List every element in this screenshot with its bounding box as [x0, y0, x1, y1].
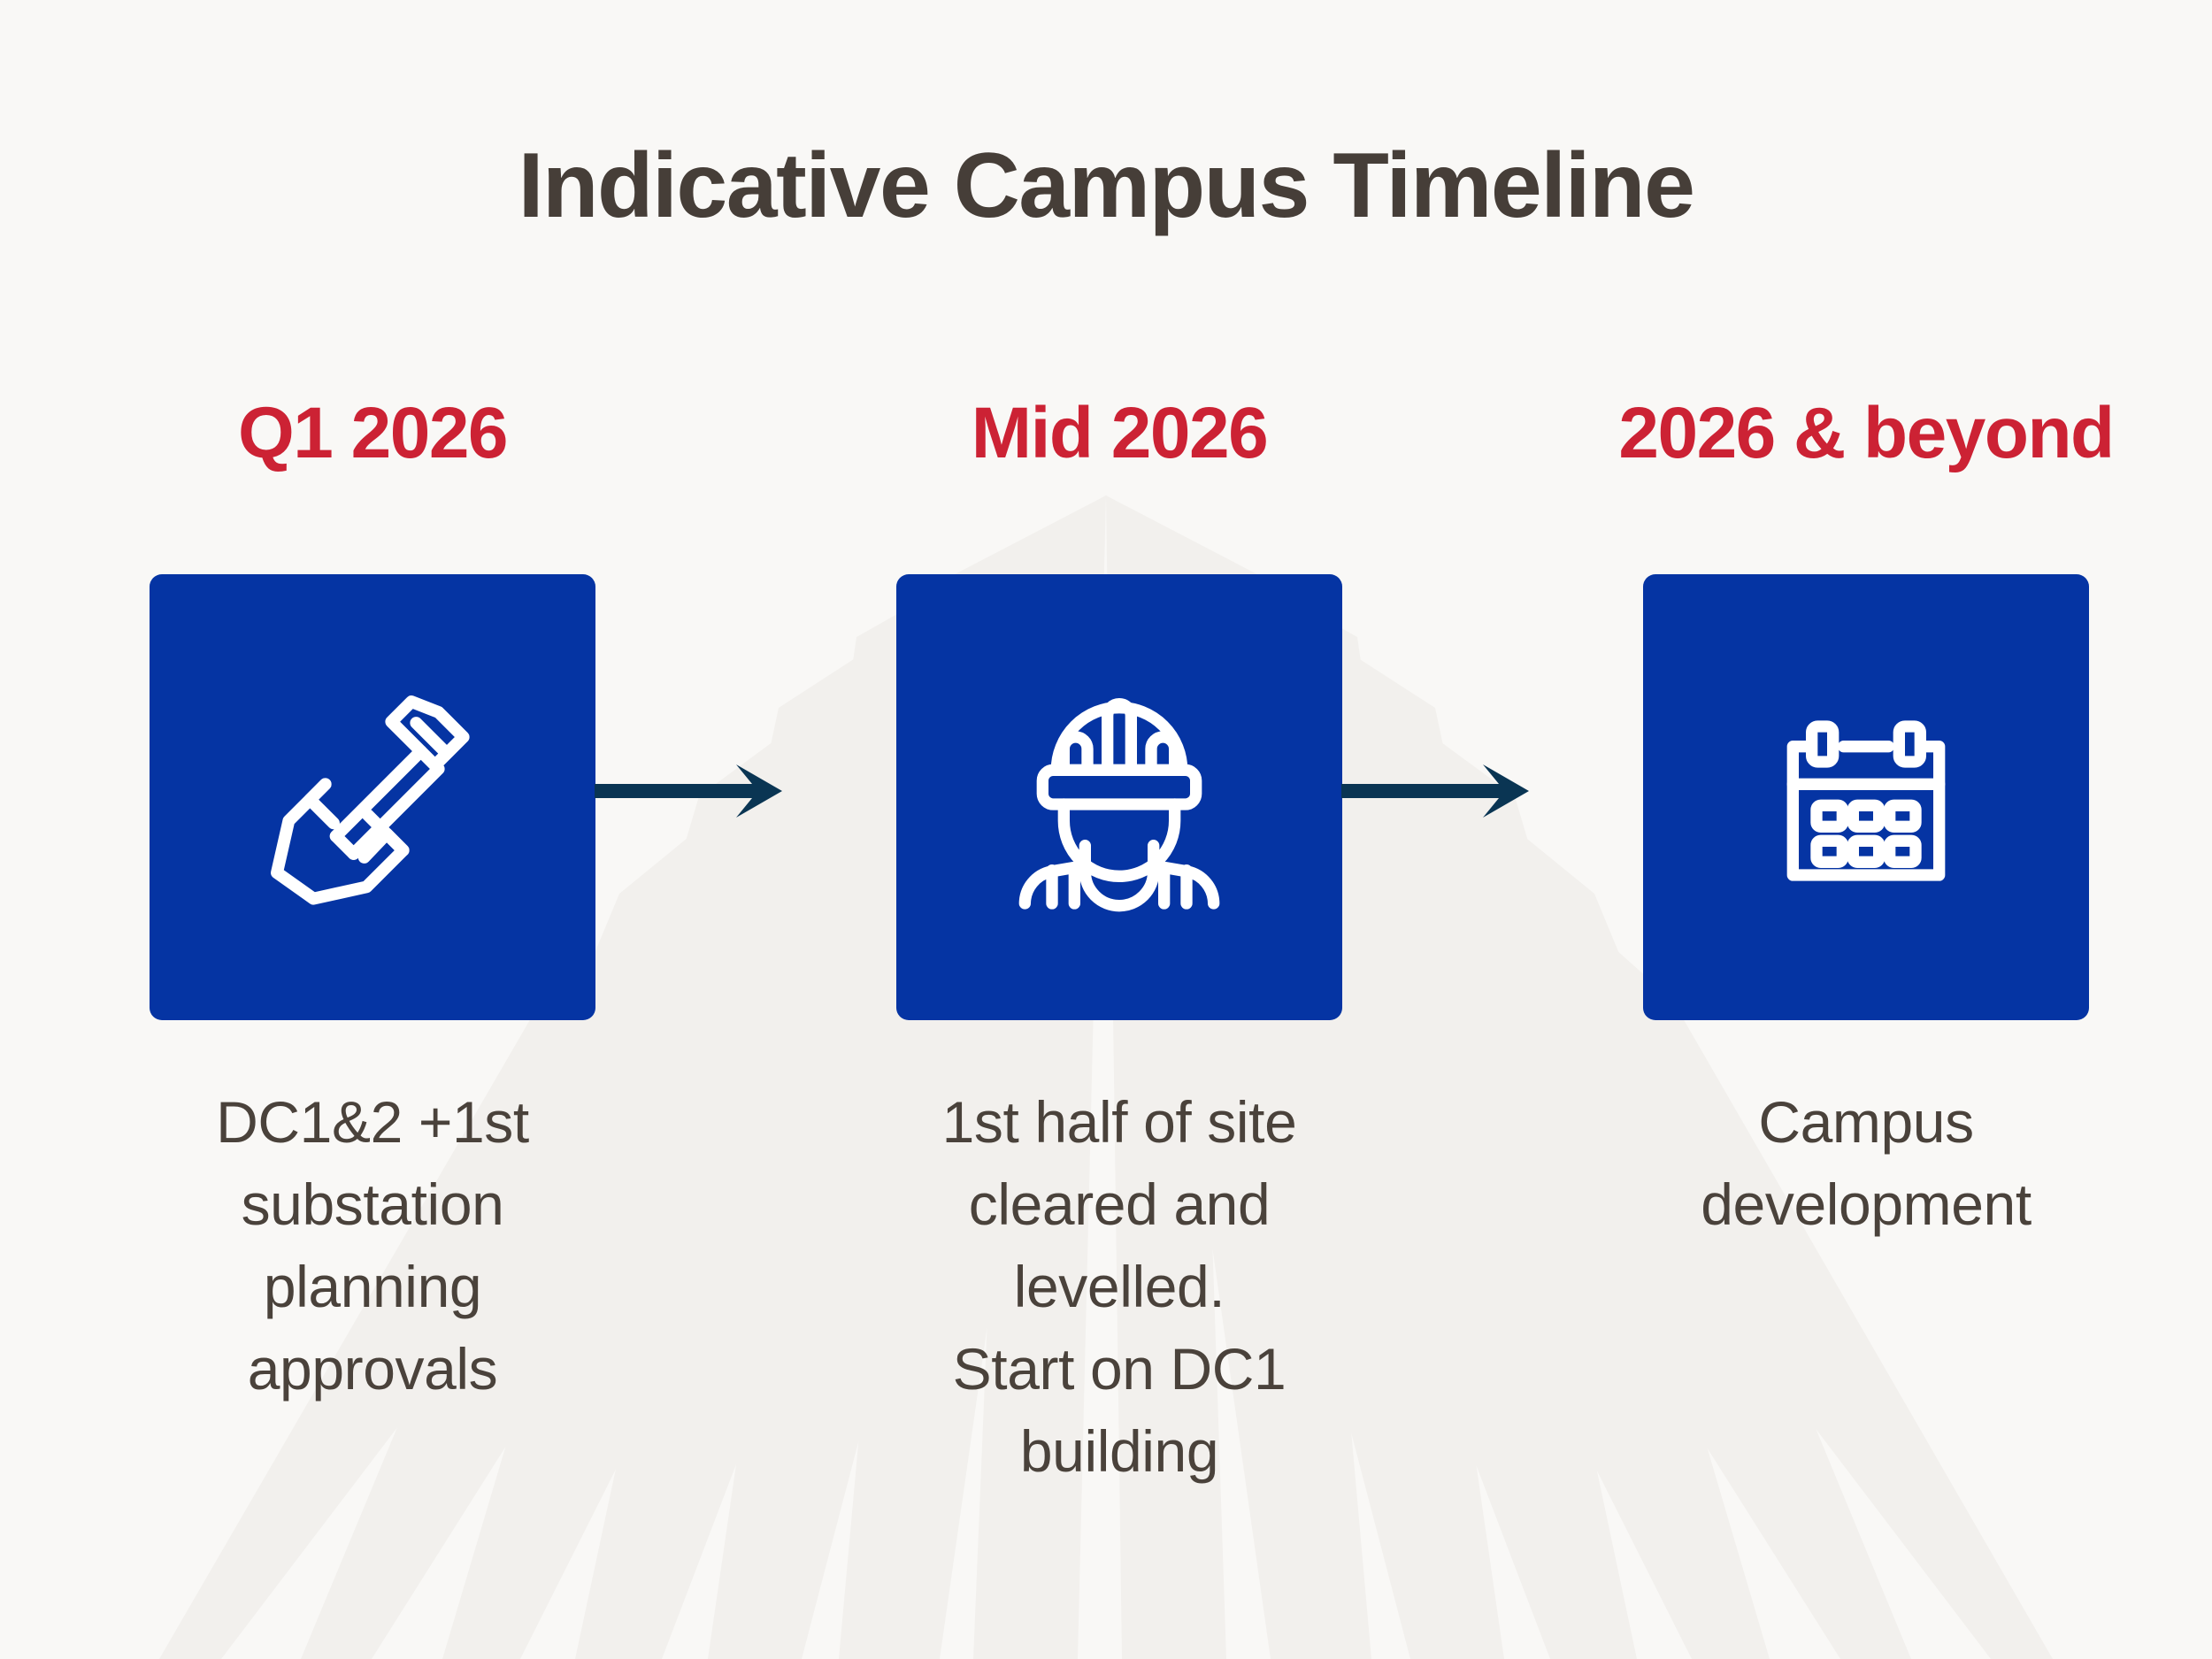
icon-tile-worker	[896, 574, 1342, 1020]
infographic-canvas: Indicative Campus Timeline Q1 2026	[0, 0, 2212, 1659]
timeline-step-2: Mid 2026	[896, 0, 1342, 1659]
construction-worker-icon	[978, 656, 1261, 939]
step-heading: Q1 2026	[79, 391, 666, 476]
timeline-step-3: 2026 & beyond Cam	[1643, 0, 2089, 1659]
shovel-icon	[231, 656, 514, 939]
icon-tile-calendar	[1643, 574, 2089, 1020]
arrow-right-icon	[595, 759, 816, 823]
icon-tile-shovel	[150, 574, 595, 1020]
calendar-icon	[1724, 656, 2008, 939]
page-title: Indicative Campus Timeline	[0, 133, 2212, 239]
step-heading: 2026 & beyond	[1572, 391, 2160, 476]
arrow-right-icon	[1341, 759, 1563, 823]
step-caption: DC1&2 +1st substation planning approvals	[114, 1081, 631, 1410]
step-caption: 1st half of site cleared and levelled. S…	[861, 1081, 1378, 1493]
timeline-step-1: Q1 2026 DC1&2 +1st substation planning a…	[150, 0, 595, 1659]
step-caption: Campus development	[1608, 1081, 2124, 1246]
step-heading: Mid 2026	[826, 391, 1413, 476]
